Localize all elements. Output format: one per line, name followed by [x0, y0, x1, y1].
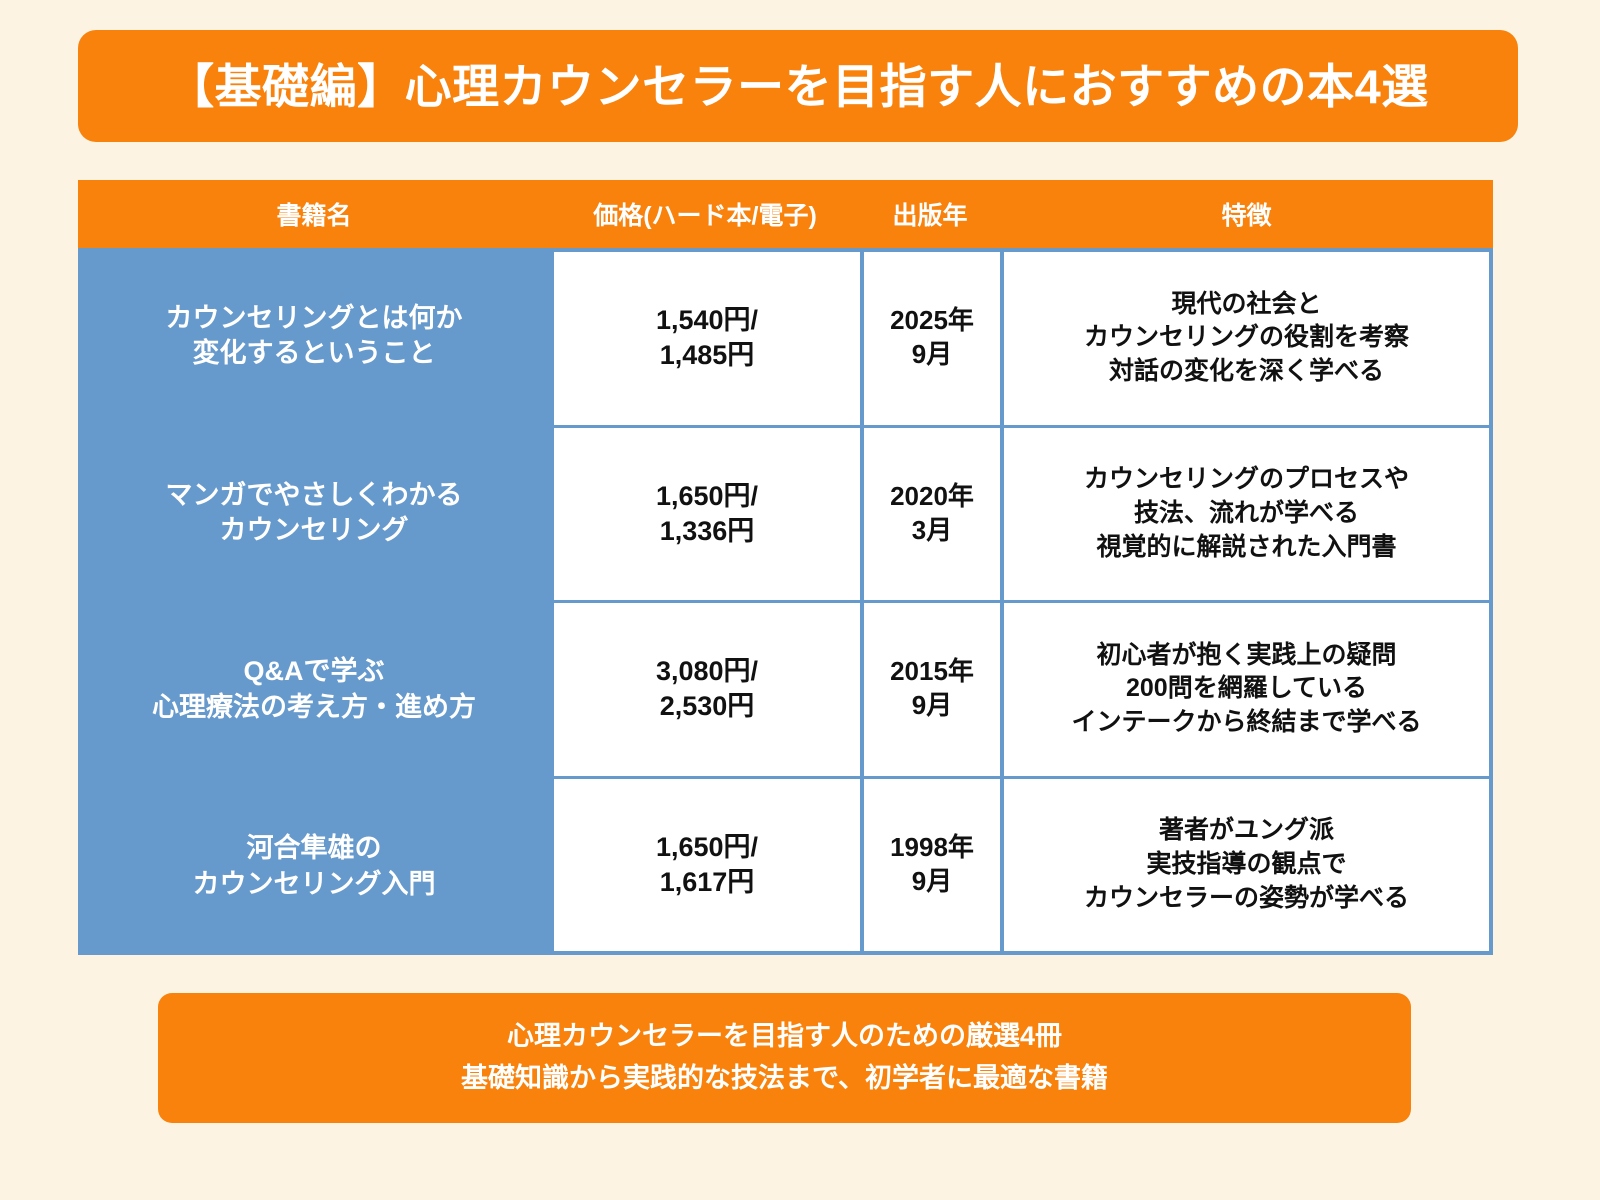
- table-row: Q&Aで学ぶ 心理療法の考え方・進め方: [78, 602, 550, 779]
- feature-line: カウンセリングの役割を考察: [1084, 321, 1409, 355]
- table-header-row: 書籍名 価格(ハード本/電子) 出版年 特徴: [78, 180, 1493, 248]
- price-line: 3,080円/: [656, 654, 758, 689]
- price-cell: 1,650円/ 1,336円: [554, 428, 860, 604]
- feature-line: インテークから終結まで学べる: [1071, 706, 1421, 740]
- price-cell: 1,540円/ 1,485円: [554, 252, 860, 428]
- year-line: 1998年: [890, 831, 974, 865]
- feature-line: カウンセリングのプロセスや: [1084, 463, 1409, 497]
- book-name-line: カウンセリング: [166, 513, 463, 549]
- price-cell: 1,650円/ 1,617円: [554, 779, 860, 952]
- price-line: 1,617円: [656, 865, 758, 900]
- column-header-book-name: 書籍名: [78, 180, 550, 248]
- year-cell: 2015年 9月: [864, 603, 1000, 779]
- year-line: 2020年: [890, 480, 974, 514]
- year-line: 2025年: [890, 304, 974, 338]
- column-header-features: 特徴: [1000, 180, 1493, 248]
- features-cell: 著者がユング派 実技指導の観点で カウンセラーの姿勢が学べる: [1004, 779, 1489, 952]
- column-header-price: 価格(ハード本/電子): [550, 180, 860, 248]
- book-name-column: カウンセリングとは何か 変化するということ マンガでやさしくわかる カウンセリン…: [78, 248, 550, 955]
- summary-line-2: 基礎知識から実践的な技法まで、初学者に最適な書籍: [461, 1058, 1108, 1100]
- price-line: 2,530円: [656, 689, 758, 724]
- feature-line: 200問を網羅している: [1071, 672, 1421, 706]
- year-cell: 1998年 9月: [864, 779, 1000, 952]
- book-name-line: マンガでやさしくわかる: [166, 478, 463, 514]
- table-row: 河合隼雄の カウンセリング入門: [78, 778, 550, 955]
- year-line: 3月: [890, 514, 974, 548]
- features-column: 現代の社会と カウンセリングの役割を考察 対話の変化を深く学べる カウンセリング…: [1000, 252, 1489, 951]
- book-name-line: Q&Aで学ぶ: [152, 654, 476, 690]
- page-title: 【基礎編】心理カウンセラーを目指す人におすすめの本4選: [167, 63, 1429, 110]
- year-cell: 2020年 3月: [864, 428, 1000, 604]
- year-line: 9月: [890, 865, 974, 899]
- feature-line: 技法、流れが学べる: [1084, 497, 1409, 531]
- features-cell: カウンセリングのプロセスや 技法、流れが学べる 視覚的に解説された入門書: [1004, 428, 1489, 604]
- features-cell: 現代の社会と カウンセリングの役割を考察 対話の変化を深く学べる: [1004, 252, 1489, 428]
- price-line: 1,650円/: [656, 830, 758, 865]
- table-data-columns: 1,540円/ 1,485円 1,650円/ 1,336円 3,080円/: [550, 248, 1493, 955]
- price-cell: 3,080円/ 2,530円: [554, 603, 860, 779]
- feature-line: 視覚的に解説された入門書: [1084, 531, 1409, 565]
- publication-year-column: 2025年 9月 2020年 3月 2015年 9月: [860, 252, 1000, 951]
- slide-root: 【基礎編】心理カウンセラーを目指す人におすすめの本4選 書籍名 価格(ハード本/…: [0, 0, 1600, 1200]
- price-line: 1,650円/: [656, 479, 758, 514]
- book-name-line: 変化するということ: [166, 336, 463, 372]
- year-line: 9月: [890, 689, 974, 723]
- year-line: 2015年: [890, 655, 974, 689]
- column-header-year: 出版年: [860, 180, 1000, 248]
- feature-line: 対話の変化を深く学べる: [1084, 355, 1409, 389]
- price-line: 1,540円/: [656, 303, 758, 338]
- price-line: 1,336円: [656, 514, 758, 549]
- book-comparison-table: 書籍名 価格(ハード本/電子) 出版年 特徴 カウンセリングとは何か 変化すると…: [78, 180, 1493, 955]
- price-line: 1,485円: [656, 338, 758, 373]
- feature-line: 現代の社会と: [1084, 288, 1409, 322]
- title-banner: 【基礎編】心理カウンセラーを目指す人におすすめの本4選: [78, 30, 1518, 142]
- price-column: 1,540円/ 1,485円 1,650円/ 1,336円 3,080円/: [550, 252, 860, 951]
- year-line: 9月: [890, 338, 974, 372]
- feature-line: 初心者が抱く実践上の疑問: [1071, 639, 1421, 673]
- book-name-line: カウンセリング入門: [193, 867, 436, 903]
- book-name-line: 心理療法の考え方・進め方: [152, 690, 476, 726]
- summary-line-1: 心理カウンセラーを目指す人のための厳選4冊: [507, 1016, 1062, 1058]
- feature-line: 著者がユング派: [1084, 814, 1409, 848]
- feature-line: カウンセラーの姿勢が学べる: [1084, 882, 1409, 916]
- table-body: カウンセリングとは何か 変化するということ マンガでやさしくわかる カウンセリン…: [78, 248, 1493, 955]
- table-row: マンガでやさしくわかる カウンセリング: [78, 425, 550, 602]
- summary-banner: 心理カウンセラーを目指す人のための厳選4冊 基礎知識から実践的な技法まで、初学者…: [158, 993, 1411, 1123]
- book-name-line: カウンセリングとは何か: [166, 301, 463, 337]
- book-name-line: 河合隼雄の: [193, 831, 436, 867]
- feature-line: 実技指導の観点で: [1084, 848, 1409, 882]
- features-cell: 初心者が抱く実践上の疑問 200問を網羅している インテークから終結まで学べる: [1004, 603, 1489, 779]
- year-cell: 2025年 9月: [864, 252, 1000, 428]
- table-row: カウンセリングとは何か 変化するということ: [78, 248, 550, 425]
